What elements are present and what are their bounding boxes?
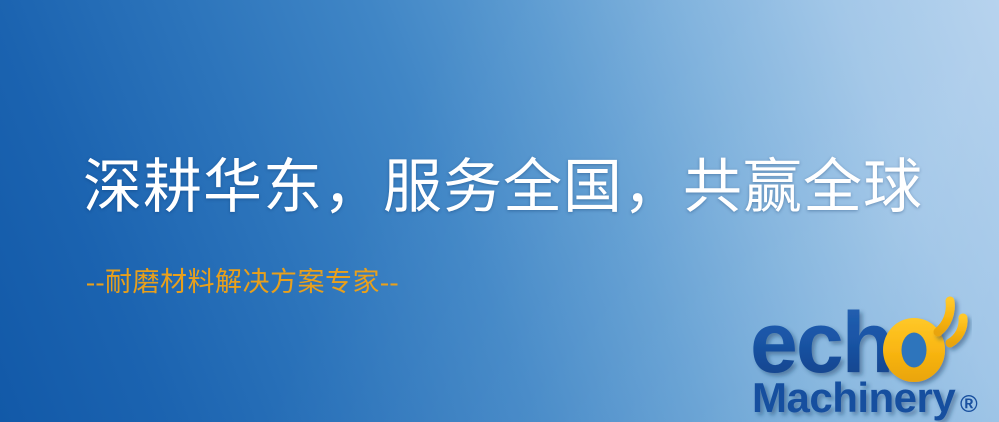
echo-machinery-logo[interactable]: ech Machinery ® xyxy=(748,296,999,422)
page-title: 深耕华东，服务全国，共赢全球 xyxy=(83,156,923,220)
logo-wordmark: Machinery xyxy=(752,374,956,421)
logo-o-icon xyxy=(883,318,945,382)
registered-trademark-icon: ® xyxy=(960,391,978,418)
page-subtitle: --耐磨材料解决方案专家-- xyxy=(86,266,399,298)
promo-banner: 深耕华东，服务全国，共赢全球 --耐磨材料解决方案专家-- xyxy=(0,0,999,422)
